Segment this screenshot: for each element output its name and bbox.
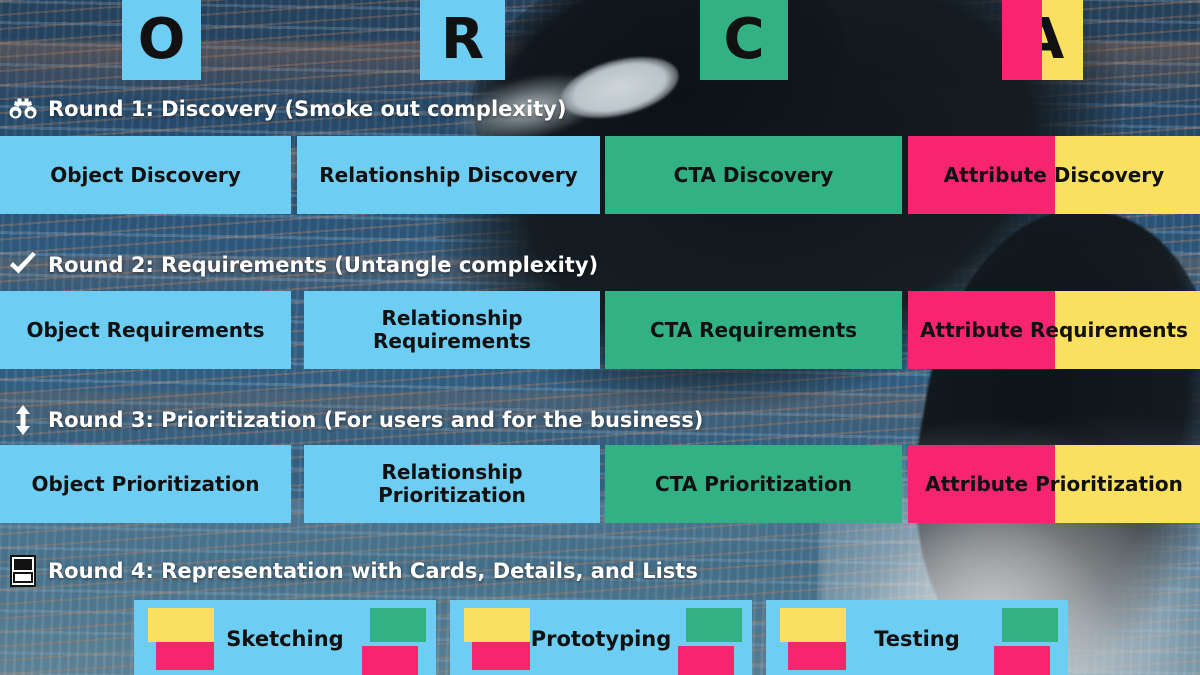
cell-object-requirements[interactable]: Object Requirements <box>0 291 291 369</box>
cell-cta-requirements[interactable]: CTA Requirements <box>605 291 902 369</box>
acronym-tile-a: A <box>1002 0 1083 80</box>
cell-attribute-requirements[interactable]: Attribute Requirements <box>908 291 1200 369</box>
acronym-tile-r: R <box>420 0 505 80</box>
method-box-testing[interactable]: Testing <box>766 600 1068 675</box>
acronym-letter: C <box>723 12 764 68</box>
method-box-sketching[interactable]: Sketching <box>134 600 436 675</box>
slide-canvas: O R C A <box>0 0 1200 675</box>
cell-attribute-prioritization[interactable]: Attribute Prioritization <box>908 445 1200 523</box>
cell-relationship-requirements[interactable]: Relationship Requirements <box>304 291 600 369</box>
round-3-header: Round 3: Prioritization (For users and f… <box>8 405 703 435</box>
cell-object-discovery[interactable]: Object Discovery <box>0 136 291 214</box>
binoculars-icon <box>8 94 38 124</box>
method-label-testing: Testing <box>766 627 1068 651</box>
acronym-tile-o: O <box>122 0 201 80</box>
round-4-header: Round 4: Representation with Cards, Deta… <box>8 556 698 586</box>
check-icon <box>8 250 38 280</box>
card-icon <box>8 556 38 586</box>
cell-cta-discovery[interactable]: CTA Discovery <box>605 136 902 214</box>
round-2-header: Round 2: Requirements (Untangle complexi… <box>8 250 598 280</box>
cell-relationship-prioritization[interactable]: Relationship Prioritization <box>304 445 600 523</box>
cell-relationship-discovery[interactable]: Relationship Discovery <box>297 136 600 214</box>
round-1-header: Round 1: Discovery (Smoke out complexity… <box>8 94 566 124</box>
acronym-tile-a-pink-half <box>1002 0 1042 80</box>
round-2-title: Round 2: Requirements (Untangle complexi… <box>48 253 598 277</box>
cell-object-prioritization[interactable]: Object Prioritization <box>0 445 291 523</box>
round-1-title: Round 1: Discovery (Smoke out complexity… <box>48 97 566 121</box>
acronym-letter: O <box>138 12 186 68</box>
acronym-letter: R <box>441 12 484 68</box>
method-label-sketching: Sketching <box>134 627 436 651</box>
cell-attribute-discovery[interactable]: Attribute Discovery <box>908 136 1200 214</box>
acronym-tile-c: C <box>700 0 788 80</box>
method-box-prototyping[interactable]: Prototyping <box>450 600 752 675</box>
cell-cta-prioritization[interactable]: CTA Prioritization <box>605 445 902 523</box>
method-label-prototyping: Prototyping <box>450 627 752 651</box>
round-4-title: Round 4: Representation with Cards, Deta… <box>48 559 698 583</box>
round-3-title: Round 3: Prioritization (For users and f… <box>48 408 703 432</box>
up-down-arrow-icon <box>8 405 38 435</box>
